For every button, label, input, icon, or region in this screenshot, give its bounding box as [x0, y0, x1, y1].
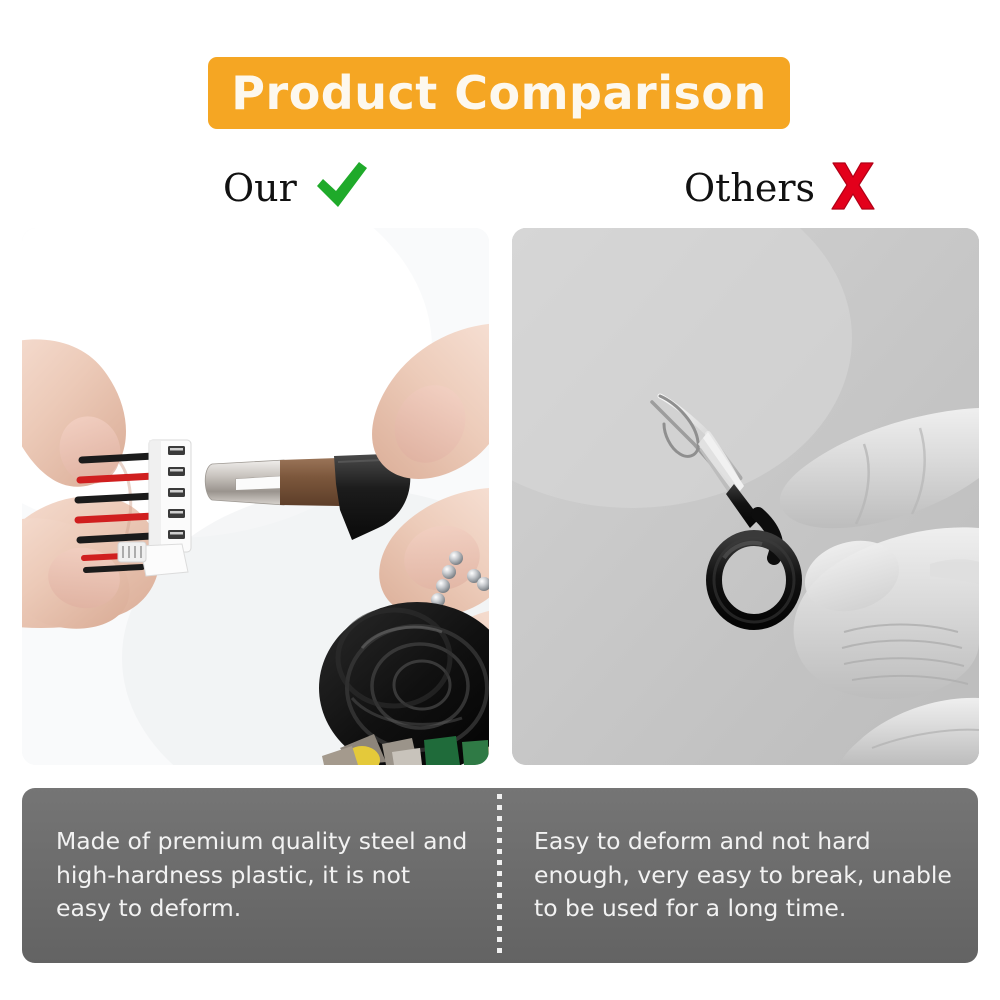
check-icon — [313, 160, 369, 217]
caption-our: Made of premium quality steel and high-h… — [22, 788, 500, 963]
page-title: Product Comparison — [231, 70, 766, 116]
caption-others: Easy to deform and not hard enough, very… — [500, 788, 978, 963]
photo-others — [512, 228, 979, 765]
photo-our — [22, 228, 489, 765]
column-header-others: Others — [684, 160, 875, 216]
column-label-our: Our — [223, 169, 297, 207]
title-banner: Product Comparison — [208, 57, 790, 129]
caption-others-text: Easy to deform and not hard enough, very… — [534, 825, 952, 925]
column-header-our: Our — [223, 160, 369, 216]
caption-divider — [497, 794, 502, 957]
cross-icon — [831, 161, 875, 216]
column-label-others: Others — [684, 169, 815, 207]
caption-our-text: Made of premium quality steel and high-h… — [56, 825, 468, 925]
